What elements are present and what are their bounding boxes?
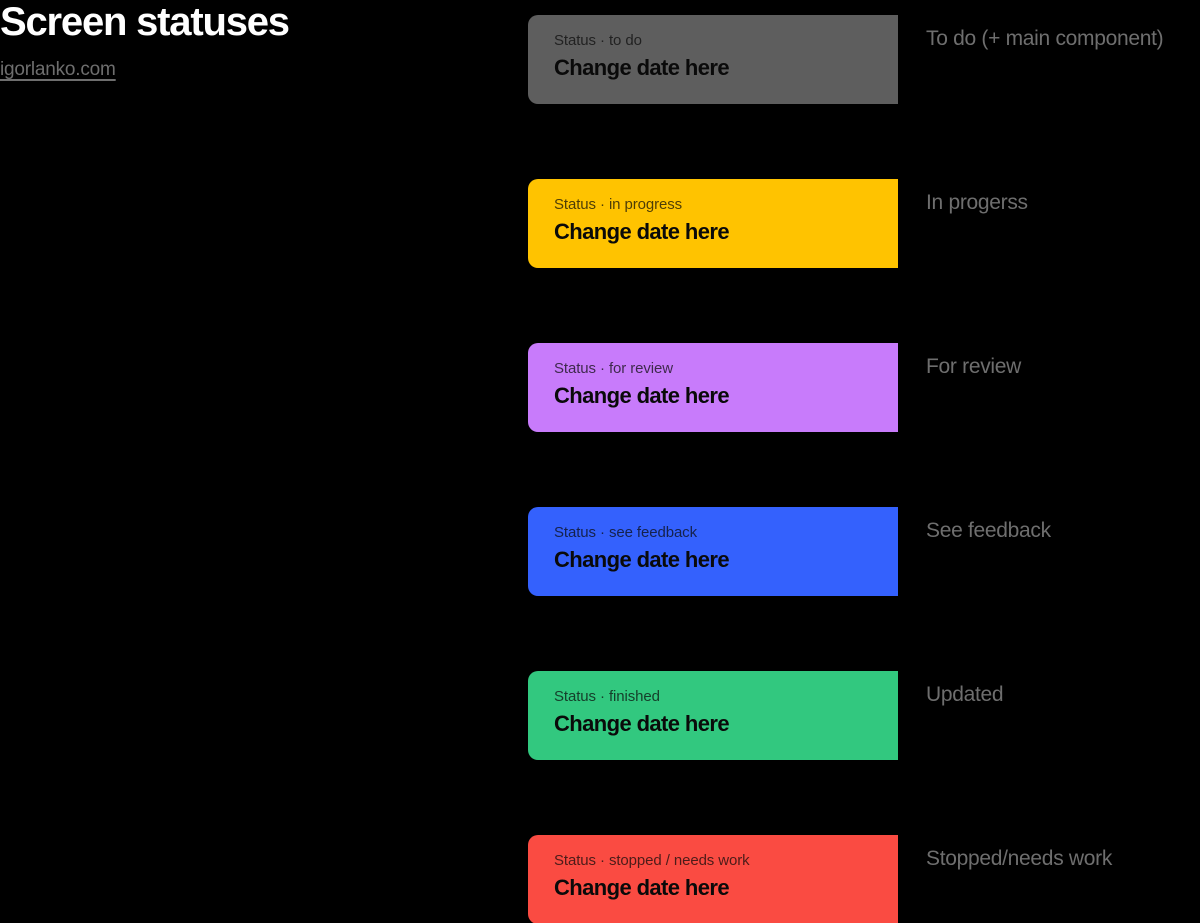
status-card[interactable]: Status · for reviewChange date here [528, 343, 898, 432]
status-rows-container: Status · to doChange date hereTo do (+ m… [0, 0, 1200, 923]
status-card-meta: Status · to do [554, 31, 898, 50]
status-card[interactable]: Status · to doChange date here [528, 15, 898, 104]
status-card[interactable]: Status · stopped / needs workChange date… [528, 835, 898, 923]
status-row-label: Updated [926, 681, 1003, 708]
status-row-label: For review [926, 353, 1021, 380]
status-card-meta: Status · for review [554, 359, 898, 378]
status-row-label: Stopped/needs work [926, 845, 1112, 872]
status-card-title: Change date here [554, 546, 898, 574]
status-row: Status · for reviewChange date hereFor r… [528, 343, 1200, 432]
status-card-meta: Status · see feedback [554, 523, 898, 542]
status-card-meta: Status · in progress [554, 195, 898, 214]
status-card[interactable]: Status · in progressChange date here [528, 179, 898, 268]
status-card-title: Change date here [554, 874, 898, 902]
status-card-meta: Status · finished [554, 687, 898, 706]
status-row-label: See feedback [926, 517, 1051, 544]
status-card-title: Change date here [554, 710, 898, 738]
status-row: Status · see feedbackChange date hereSee… [528, 507, 1200, 596]
status-row: Status · stopped / needs workChange date… [528, 835, 1200, 923]
status-card[interactable]: Status · finishedChange date here [528, 671, 898, 760]
status-row: Status · finishedChange date hereUpdated [528, 671, 1200, 760]
status-card-title: Change date here [554, 382, 898, 410]
status-row-label: In progerss [926, 189, 1028, 216]
status-row: Status · to doChange date hereTo do (+ m… [528, 15, 1200, 104]
status-card-title: Change date here [554, 218, 898, 246]
status-card[interactable]: Status · see feedbackChange date here [528, 507, 898, 596]
status-row: Status · in progressChange date hereIn p… [528, 179, 1200, 268]
status-row-label: To do (+ main component) [926, 25, 1163, 52]
status-card-title: Change date here [554, 54, 898, 82]
status-card-meta: Status · stopped / needs work [554, 851, 898, 870]
